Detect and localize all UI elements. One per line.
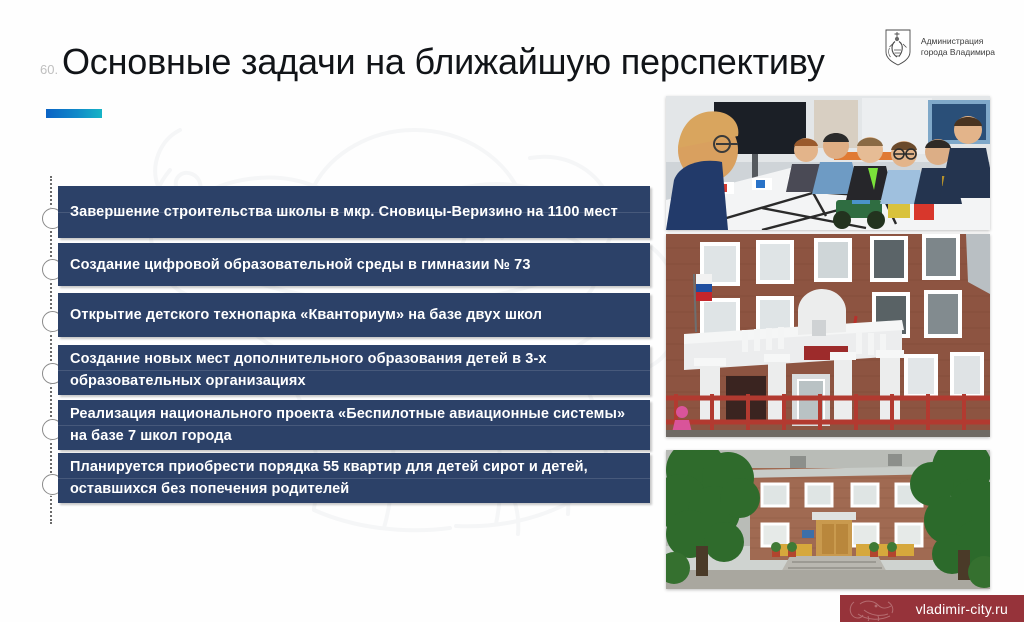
- task-box[interactable]: Открытие детского технопарка «Кванториум…: [58, 293, 650, 337]
- task-box[interactable]: Планируется приобрести порядка 55 кварти…: [58, 453, 650, 503]
- slide-canvas: 60. Основные задачи на ближайшую перспек…: [0, 0, 1024, 622]
- task-text: Реализация национального проекта «Беспил…: [70, 403, 636, 447]
- admin-logo-text: Администрация города Владимира: [921, 36, 995, 58]
- task-text: Создание цифровой образовательной среды …: [70, 254, 531, 276]
- task-text: Планируется приобрести порядка 55 кварти…: [70, 456, 636, 500]
- footer-site-badge[interactable]: vladimir-city.ru: [840, 595, 1024, 622]
- footer-site-text: vladimir-city.ru: [916, 601, 1008, 617]
- photo-kindergarten-building: [666, 450, 990, 589]
- photo-robotics-class: [666, 96, 990, 230]
- task-text: Завершение строительства школы в мкр. Сн…: [70, 201, 618, 223]
- page-title: Основные задачи на ближайшую перспективу: [62, 41, 825, 83]
- task-text: Открытие детского технопарка «Кванториум…: [70, 304, 542, 326]
- slide-number: 60.: [40, 62, 58, 77]
- coat-of-arms-icon: [883, 28, 913, 66]
- task-box[interactable]: Создание цифровой образовательной среды …: [58, 243, 650, 286]
- admin-logo-line2: города Владимира: [921, 47, 995, 58]
- lion-icon: [846, 596, 898, 621]
- task-box[interactable]: Создание новых мест дополнительного обра…: [58, 345, 650, 395]
- task-box[interactable]: Реализация национального проекта «Беспил…: [58, 400, 650, 450]
- title-accent-bar: [46, 109, 102, 118]
- photo-school-building: [666, 234, 990, 437]
- task-box[interactable]: Завершение строительства школы в мкр. Сн…: [58, 186, 650, 238]
- admin-logo: Администрация города Владимира: [883, 27, 995, 67]
- admin-logo-line1: Администрация: [921, 36, 995, 47]
- timeline-rail: [50, 176, 53, 524]
- task-text: Создание новых мест дополнительного обра…: [70, 348, 636, 392]
